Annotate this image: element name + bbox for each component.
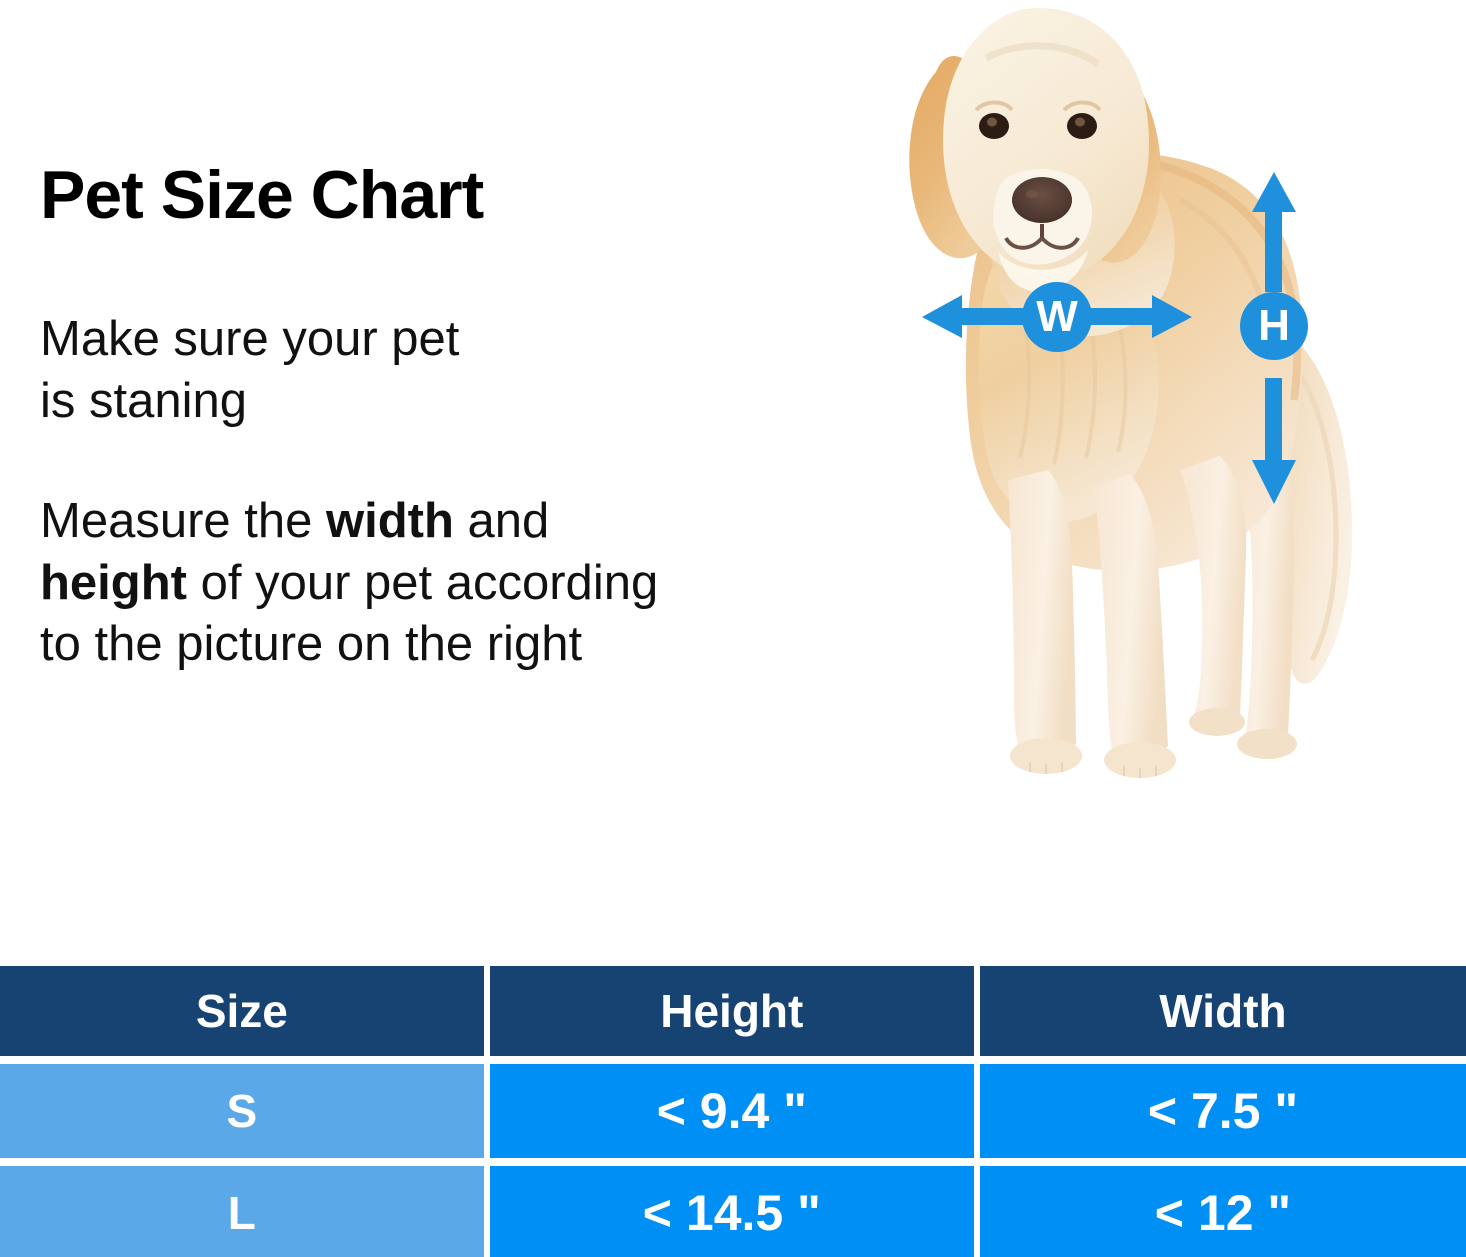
cell-height-s: < 9.4 " xyxy=(490,1064,980,1166)
measure-text-prefix: Measure the xyxy=(40,494,326,548)
page-title: Pet Size Chart xyxy=(40,160,920,231)
cell-size-s: S xyxy=(0,1064,490,1166)
table-header-row: Size Height Width xyxy=(0,966,1466,1064)
cell-height-l: < 14.5 " xyxy=(490,1166,980,1257)
measure-text-suffix: to the picture on the right xyxy=(40,617,582,671)
column-header-size: Size xyxy=(0,966,490,1064)
pet-size-chart-page: Pet Size Chart Make sure your pet is sta… xyxy=(0,0,1466,1257)
dog-nose xyxy=(1012,177,1072,223)
dog-rear-paw-far xyxy=(1237,729,1297,759)
column-header-width: Width xyxy=(980,966,1466,1064)
cell-size-l: L xyxy=(0,1166,490,1257)
width-keyword: width xyxy=(326,494,454,548)
dog-rear-paw-near xyxy=(1189,708,1245,736)
table-row: S < 9.4 " < 7.5 " xyxy=(0,1064,1466,1166)
measure-text-middle: of your pet according xyxy=(187,556,658,610)
cell-width-s: < 7.5 " xyxy=(980,1064,1466,1166)
width-marker-badge: W xyxy=(1022,282,1092,352)
instruction-paragraph-1: Make sure your pet is staning xyxy=(40,309,920,432)
height-marker-badge: H xyxy=(1240,292,1308,360)
instructions-panel: Pet Size Chart Make sure your pet is sta… xyxy=(40,160,920,734)
instruction-line-1: Make sure your pet xyxy=(40,309,920,371)
table-row: L < 14.5 " < 12 " xyxy=(0,1166,1466,1257)
column-header-height: Height xyxy=(490,966,980,1064)
measure-text-conjunction: and xyxy=(454,494,549,548)
dog-vector xyxy=(880,0,1466,790)
dog-illustration xyxy=(880,0,1466,790)
instruction-line-2: is staning xyxy=(40,371,920,433)
height-keyword: height xyxy=(40,556,187,610)
instruction-paragraph-2: Measure the width and height of your pet… xyxy=(40,491,920,676)
size-chart-table: Size Height Width S < 9.4 " < 7.5 " L < … xyxy=(0,966,1466,1257)
dog-front-leg-left xyxy=(1008,470,1076,752)
cell-width-l: < 12 " xyxy=(980,1166,1466,1257)
